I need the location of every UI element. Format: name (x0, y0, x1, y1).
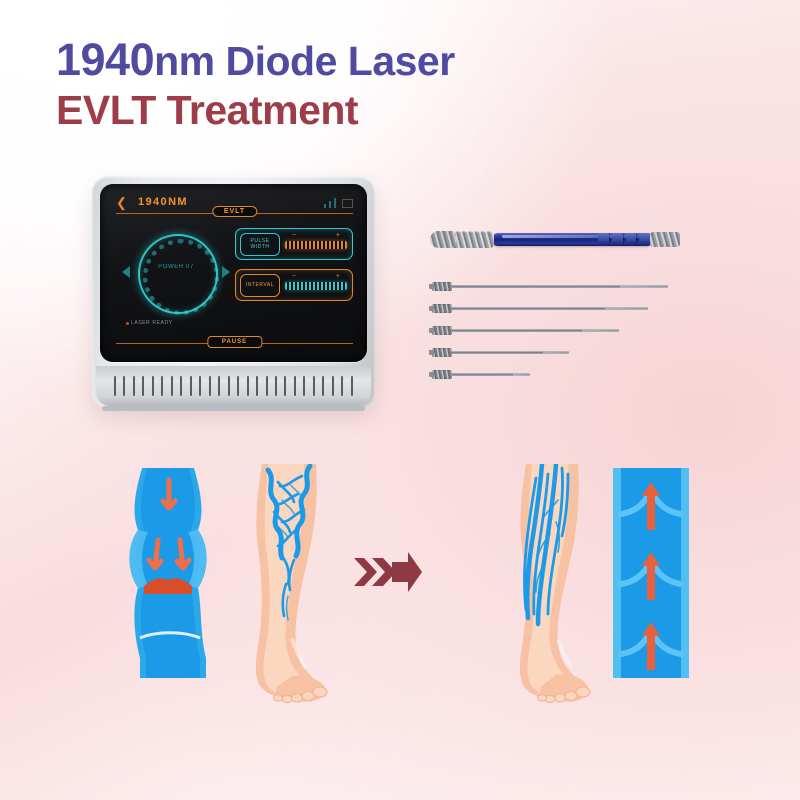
fiber-needle-5 (432, 370, 530, 379)
handpiece-ring (639, 233, 650, 246)
vent-slot (228, 376, 230, 396)
power-dial[interactable]: POWER 07 LASER READY (122, 228, 230, 324)
page-title: 1940nm Diode Laser EVLT Treatment (56, 36, 455, 132)
needle-hub (432, 304, 452, 313)
vent-slot (294, 376, 296, 396)
chevron-left-icon[interactable]: ❮ (116, 196, 127, 210)
fiber-needle-3 (432, 326, 619, 335)
plus-icon[interactable]: + (336, 273, 340, 281)
pulse-width-panel[interactable]: PULSE WIDTH − + (235, 228, 353, 260)
vent-slot (114, 376, 116, 396)
vent-slot (284, 376, 286, 396)
vent-slot (266, 376, 268, 396)
signal-bars-icon (324, 204, 326, 208)
status-icons (324, 197, 353, 208)
needle-hub (432, 370, 452, 379)
varicose-leg-illustration (232, 464, 340, 704)
vent-slot (275, 376, 277, 396)
panel-label-pulse-width: PULSE WIDTH (240, 233, 280, 256)
status-dot-icon (126, 322, 129, 325)
vent-grille (114, 376, 353, 396)
dial-ring (138, 234, 218, 314)
triangle-left-icon[interactable] (122, 266, 130, 278)
varicose-leg-svg (232, 464, 340, 704)
vent-slot (322, 376, 324, 396)
refluxing-vein-diagram (128, 468, 218, 678)
vent-slot (247, 376, 249, 396)
vent-slot (133, 376, 135, 396)
vent-slot (142, 376, 144, 396)
vent-slot (256, 376, 258, 396)
wavelength-label: 1940NM (138, 196, 188, 208)
healthy-leg-illustration (498, 464, 600, 704)
pulse-width-control[interactable]: − + (285, 232, 347, 249)
minus-icon[interactable]: − (292, 273, 296, 281)
needle-hub (432, 326, 452, 335)
tab-evlt[interactable]: EVLT (212, 206, 257, 217)
handpiece-rings (598, 233, 650, 246)
signal-bar-2 (329, 201, 331, 208)
handpiece-knurled-grip (450, 231, 494, 248)
double-chevron-right-icon (352, 548, 422, 601)
needle-shaft (451, 351, 569, 354)
needle-hub (432, 348, 452, 357)
needle-shaft (451, 285, 668, 288)
handpiece-ring (626, 233, 637, 246)
device-screen[interactable]: ❮ 1940NM EVLT POWER 07 (100, 184, 367, 362)
fiber-needle-2 (432, 304, 648, 313)
status-badge: LASER READY (126, 320, 173, 326)
transition-arrow-svg (352, 548, 422, 596)
triangle-right-icon[interactable] (222, 266, 230, 278)
alert-text: LASER READY (131, 320, 173, 326)
laser-handpiece (430, 228, 680, 252)
interval-slider[interactable] (285, 282, 347, 290)
fiber-needle-1 (432, 282, 668, 291)
vent-slot (123, 376, 125, 396)
poster-canvas: 1940nm Diode Laser EVLT Treatment ❮ 1940… (0, 0, 800, 800)
refluxing-vein-svg (128, 468, 218, 678)
healthy-leg-svg (498, 464, 600, 704)
interval-control[interactable]: − + (285, 273, 347, 290)
vent-slot (209, 376, 211, 396)
vent-slot (237, 376, 239, 396)
minus-icon[interactable]: − (292, 232, 296, 240)
handpiece-tip-cap (430, 231, 456, 248)
vent-slot (199, 376, 201, 396)
vent-slot (171, 376, 173, 396)
needle-shaft (451, 373, 530, 376)
screen-bottombar: PAUSE (116, 336, 353, 350)
interval-signs: − + (285, 273, 347, 281)
fiber-needle-4 (432, 348, 569, 357)
device-foot (102, 406, 365, 411)
plus-icon[interactable]: + (336, 232, 340, 240)
vent-slot (351, 376, 353, 396)
laser-device: ❮ 1940NM EVLT POWER 07 (92, 176, 375, 408)
handpiece-connector (650, 232, 680, 247)
title-line-2: EVLT Treatment (56, 88, 455, 132)
needle-shaft (451, 307, 648, 310)
title-line-1: 1940nm Diode Laser (56, 36, 455, 85)
pulse-width-signs: − + (285, 232, 347, 240)
dial-value: POWER 07 (138, 264, 214, 270)
handpiece-ring (598, 233, 609, 246)
healthy-vein-diagram (613, 468, 689, 678)
vent-slot (152, 376, 154, 396)
panel-label-interval: INTERVAL (240, 274, 280, 297)
vein-comparison: Varicose Veins Healthy Veins (0, 450, 800, 740)
device-base (96, 366, 371, 406)
vent-slot (180, 376, 182, 396)
parameter-panels: PULSE WIDTH − + INTERVAL (235, 228, 353, 310)
handpiece-ring (612, 233, 623, 246)
vent-slot (303, 376, 305, 396)
healthy-vein-svg (613, 468, 689, 678)
vent-slot (190, 376, 192, 396)
pause-button[interactable]: PAUSE (207, 336, 262, 348)
fiber-needle-set (432, 282, 682, 382)
battery-icon (342, 199, 353, 208)
vent-slot (218, 376, 220, 396)
signal-bar-3 (334, 198, 336, 208)
pulse-width-slider[interactable] (285, 241, 347, 249)
needle-hub (432, 282, 452, 291)
vent-slot (313, 376, 315, 396)
title-line-1-rest: nm Diode Laser (154, 38, 455, 84)
title-wavelength-number: 1940 (56, 34, 154, 85)
needle-shaft (451, 329, 619, 332)
interval-panel[interactable]: INTERVAL − + (235, 269, 353, 301)
vent-slot (341, 376, 343, 396)
vent-slot (161, 376, 163, 396)
screen-ui: ❮ 1940NM EVLT POWER 07 (116, 196, 353, 352)
vent-slot (332, 376, 334, 396)
